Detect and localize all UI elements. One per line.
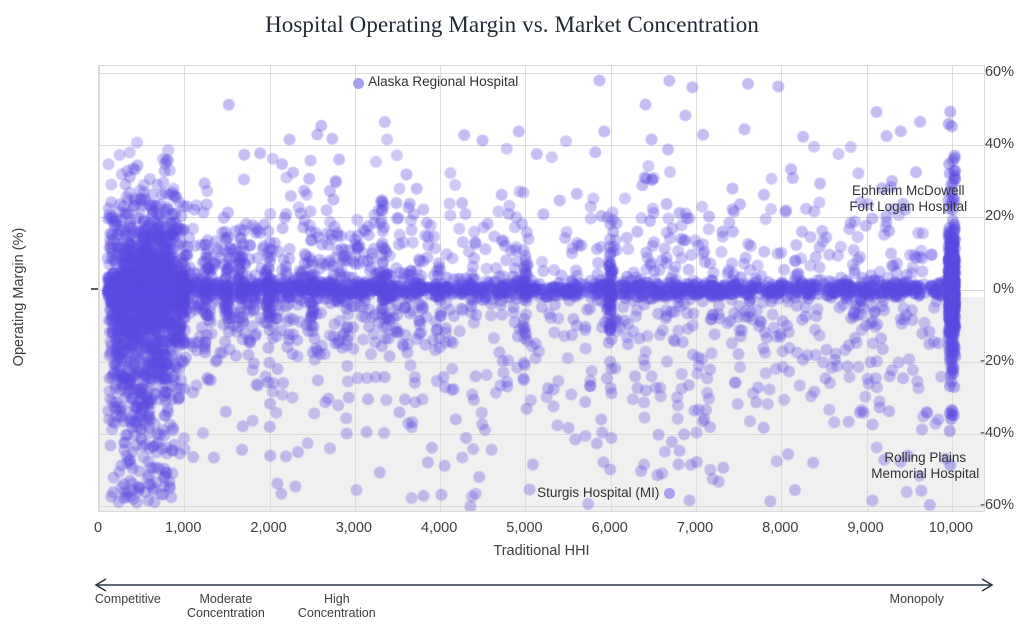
x-tick-label: 4,000 bbox=[421, 520, 457, 536]
x-tick-label: 10,000 bbox=[929, 520, 973, 536]
y-tick-label: -60% bbox=[938, 497, 1024, 513]
y-tick-label: -40% bbox=[938, 425, 1024, 441]
x-tick-label: 8,000 bbox=[762, 520, 798, 536]
page-title: Hospital Operating Margin vs. Market Con… bbox=[0, 12, 1024, 38]
y-tick-label: 0% bbox=[938, 281, 1024, 297]
y-tick-label: -20% bbox=[938, 353, 1024, 369]
y-tick-mark bbox=[91, 288, 98, 290]
x-tick-label: 0 bbox=[94, 520, 102, 536]
x-tick-label: 2,000 bbox=[250, 520, 286, 536]
scale-label: Monopoly bbox=[847, 592, 987, 606]
y-tick-label: 60% bbox=[938, 64, 1024, 80]
annotation-marker-dot bbox=[353, 78, 364, 89]
point-annotation: Alaska Regional Hospital bbox=[368, 74, 518, 90]
concentration-scale-arrow bbox=[90, 578, 998, 592]
x-axis-title: Traditional HHI bbox=[98, 543, 985, 559]
x-tick-label: 5,000 bbox=[506, 520, 542, 536]
scale-label: High Concentration bbox=[267, 592, 407, 620]
plot-area bbox=[98, 65, 985, 512]
x-tick-label: 6,000 bbox=[592, 520, 628, 536]
x-tick-label: 1,000 bbox=[165, 520, 201, 536]
scatter-chart: Hospital Operating Margin vs. Market Con… bbox=[0, 0, 1024, 635]
point-annotation: Rolling Plains Memorial Hospital bbox=[775, 450, 1024, 482]
point-annotation: Ephraim McDowell Fort Logan Hospital bbox=[758, 183, 1024, 215]
x-tick-label: 7,000 bbox=[677, 520, 713, 536]
y-tick-label: 40% bbox=[938, 136, 1024, 152]
y-axis-title: Operating Margin (%) bbox=[11, 147, 27, 447]
x-tick-label: 3,000 bbox=[336, 520, 372, 536]
x-tick-label: 9,000 bbox=[847, 520, 883, 536]
scatter-points bbox=[99, 66, 985, 512]
point-annotation: Sturgis Hospital (MI) bbox=[0, 485, 659, 501]
